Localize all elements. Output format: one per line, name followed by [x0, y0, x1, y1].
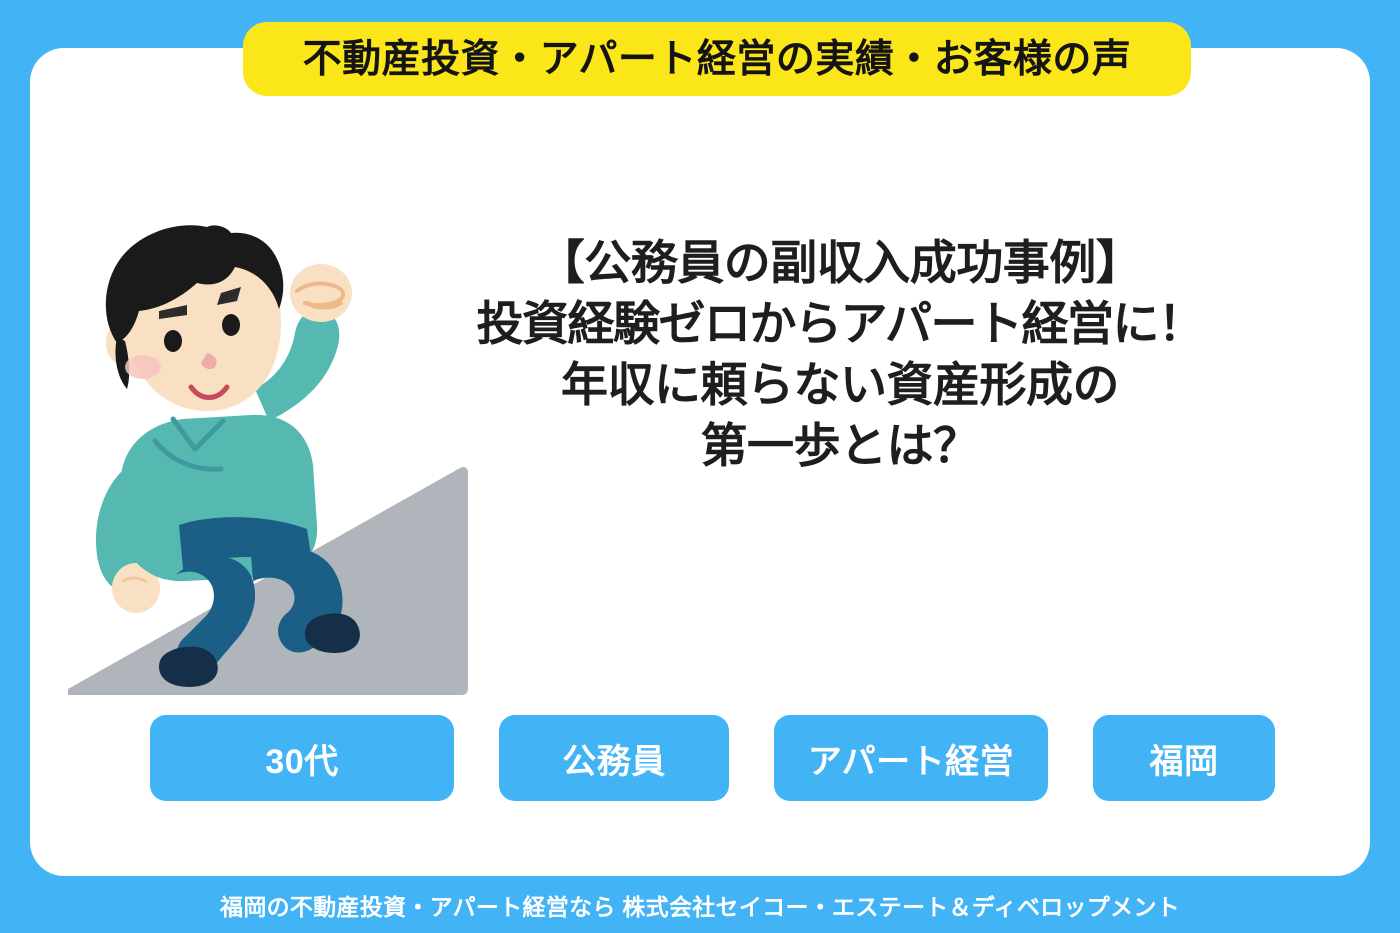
tag-list: 30代 公務員 アパート経営 福岡	[150, 714, 1275, 802]
tag-occupation-label: 公務員	[562, 734, 666, 783]
page-title: 【公務員の副収入成功事例】 投資経験ゼロからアパート経営に！ 年収に頼らない資産…	[430, 232, 1250, 476]
footer-company-label: 福岡の不動産投資・アパート経営なら 株式会社セイコー・エステート＆ディベロップメ…	[220, 888, 1180, 922]
title-line-1: 【公務員の副収入成功事例】	[430, 232, 1250, 293]
footer-bar: 福岡の不動産投資・アパート経営なら 株式会社セイコー・エステート＆ディベロップメ…	[0, 876, 1400, 933]
tag-age-label: 30代	[265, 734, 338, 783]
title-line-3: 年収に頼らない資産形成の	[430, 354, 1250, 415]
climbing-man-illustration	[55, 225, 485, 705]
header-banner: 不動産投資・アパート経営の実績・お客様の声	[243, 22, 1191, 96]
tag-location-label: 福岡	[1150, 734, 1219, 783]
page-root: 不動産投資・アパート経営の実績・お客様の声	[0, 0, 1400, 933]
tag-occupation[interactable]: 公務員	[499, 715, 729, 801]
tag-business-label: アパート経営	[808, 734, 1014, 783]
tag-business[interactable]: アパート経営	[774, 715, 1048, 801]
head	[106, 225, 283, 411]
title-line-4: 第一歩とは？	[430, 415, 1250, 476]
tag-location[interactable]: 福岡	[1093, 715, 1275, 801]
header-banner-label: 不動産投資・アパート経営の実績・お客様の声	[303, 40, 1132, 79]
tag-age[interactable]: 30代	[150, 715, 454, 801]
title-line-2: 投資経験ゼロからアパート経営に！	[430, 293, 1250, 354]
